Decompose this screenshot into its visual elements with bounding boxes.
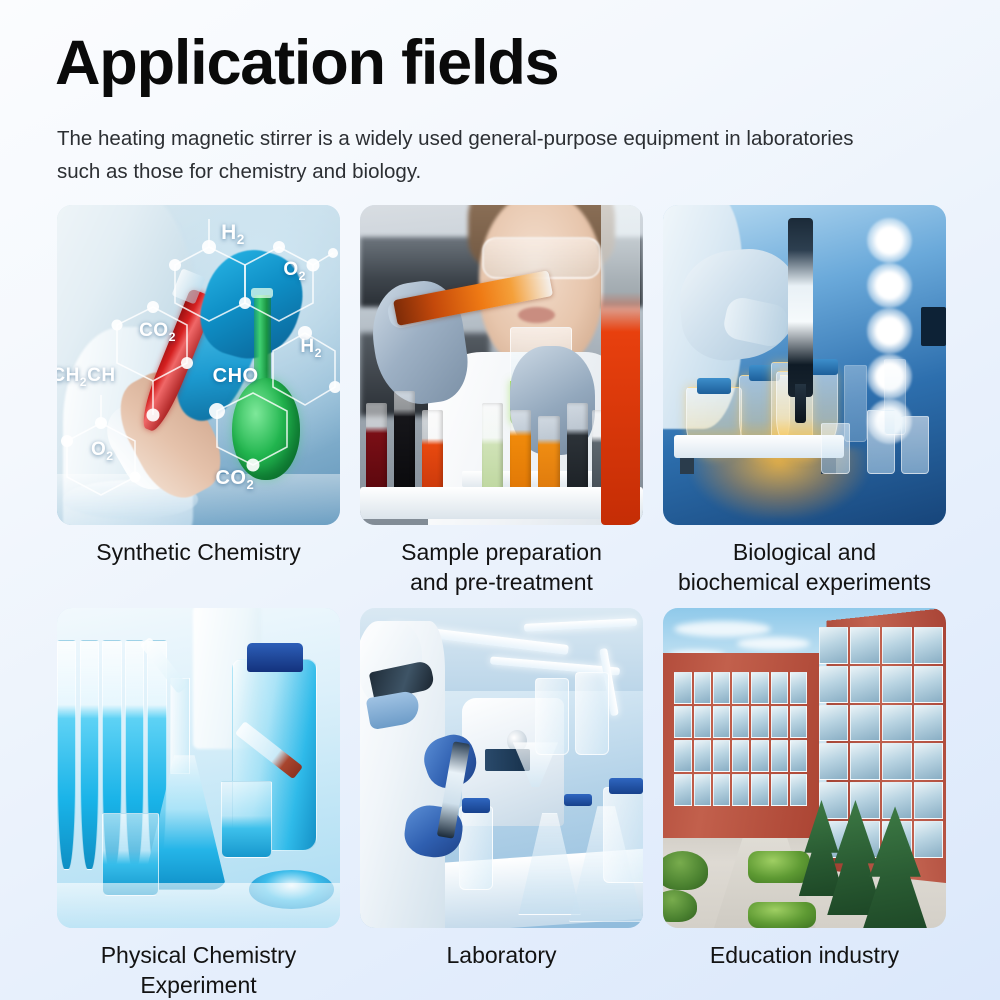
sample-vial	[459, 806, 493, 889]
platform-leg	[680, 458, 694, 474]
thumbnail-biological-biochemical[interactable]	[663, 205, 946, 525]
reagent-bottle	[603, 787, 643, 883]
application-fields-page: Application fields The heating magnetic …	[0, 0, 1000, 1000]
tile-caption: Sample preparation and pre-treatment	[360, 537, 643, 597]
tile-grid-row-1: H2 O2 CO2 CH2CH CHO H2 O2 CO2 Synthetic …	[57, 205, 943, 597]
dark-wall-panel	[921, 307, 946, 345]
reagent-bottle-back	[575, 672, 609, 755]
flask-blue-cap	[697, 378, 731, 394]
micropipette	[788, 218, 813, 397]
beaker-with-dropper	[221, 781, 272, 858]
tile-physical-chemistry[interactable]: Physical Chemistry Experiment	[57, 608, 340, 1000]
formula-o2-top: O2	[283, 259, 306, 283]
tile-caption: Physical Chemistry Experiment	[57, 940, 340, 1000]
glass-vial-back	[884, 359, 907, 436]
lab-bench	[57, 883, 340, 928]
glass-vial-back	[844, 365, 867, 442]
light-dot	[867, 308, 912, 353]
tile-synthetic-chemistry[interactable]: H2 O2 CO2 CH2CH CHO H2 O2 CO2 Synthetic …	[57, 205, 340, 597]
right-wing-windows	[819, 627, 944, 857]
light-dot	[867, 218, 912, 263]
tile-laboratory[interactable]: Laboratory	[360, 608, 643, 1000]
cloud	[674, 621, 770, 637]
blue-test-tube	[57, 640, 76, 870]
reagent-bottle-back	[535, 678, 569, 755]
blue-test-tube	[80, 640, 99, 870]
flask-platform	[674, 435, 844, 457]
tile-caption: Education industry	[663, 940, 946, 970]
formula-co2-left: CO2	[139, 320, 176, 344]
thumbnail-laboratory[interactable]	[360, 608, 643, 928]
flower-hedge-bed	[748, 902, 816, 928]
tile-caption: Biological and biochemical experiments	[663, 537, 946, 597]
formula-co2-bottom: CO2	[215, 467, 254, 492]
left-wing-windows	[674, 672, 807, 806]
pipette-tip	[795, 384, 806, 422]
tile-caption: Synthetic Chemistry	[57, 537, 340, 567]
flower-hedge-bed	[748, 851, 810, 883]
thumbnail-education-industry[interactable]	[663, 608, 946, 928]
tile-grid-row-2: Physical Chemistry Experiment	[57, 608, 943, 1000]
page-title: Application fields	[55, 30, 558, 96]
cloud	[737, 637, 811, 650]
page-subtitle: The heating magnetic stirrer is a widely…	[57, 122, 887, 188]
tile-caption: Laboratory	[360, 940, 643, 970]
thumbnail-physical-chemistry[interactable]	[57, 608, 340, 928]
tile-education-industry[interactable]: Education industry	[663, 608, 946, 1000]
tile-sample-preparation[interactable]: Sample preparation and pre-treatment	[360, 205, 643, 597]
bottle-blue-cap	[609, 778, 643, 794]
thumbnail-sample-preparation[interactable]	[360, 205, 643, 525]
formula-ch2ch: CH2CH	[57, 365, 116, 389]
tile-biological-biochemical[interactable]: Biological and biochemical experiments	[663, 205, 946, 597]
formula-h2-right: H2	[300, 336, 322, 360]
formula-o2-bottom: O2	[91, 439, 114, 463]
large-graduated-cylinder	[601, 205, 641, 525]
vial-blue-cap	[462, 798, 490, 812]
formula-cho: CHO	[213, 365, 259, 388]
thumbnail-synthetic-chemistry[interactable]: H2 O2 CO2 CH2CH CHO H2 O2 CO2	[57, 205, 340, 525]
light-dot	[867, 263, 912, 308]
bottle-blue-cap	[564, 794, 592, 807]
reagent-bottle-blue-cap	[247, 643, 304, 672]
shrub	[663, 851, 708, 889]
formula-h2-top: H2	[221, 221, 245, 247]
